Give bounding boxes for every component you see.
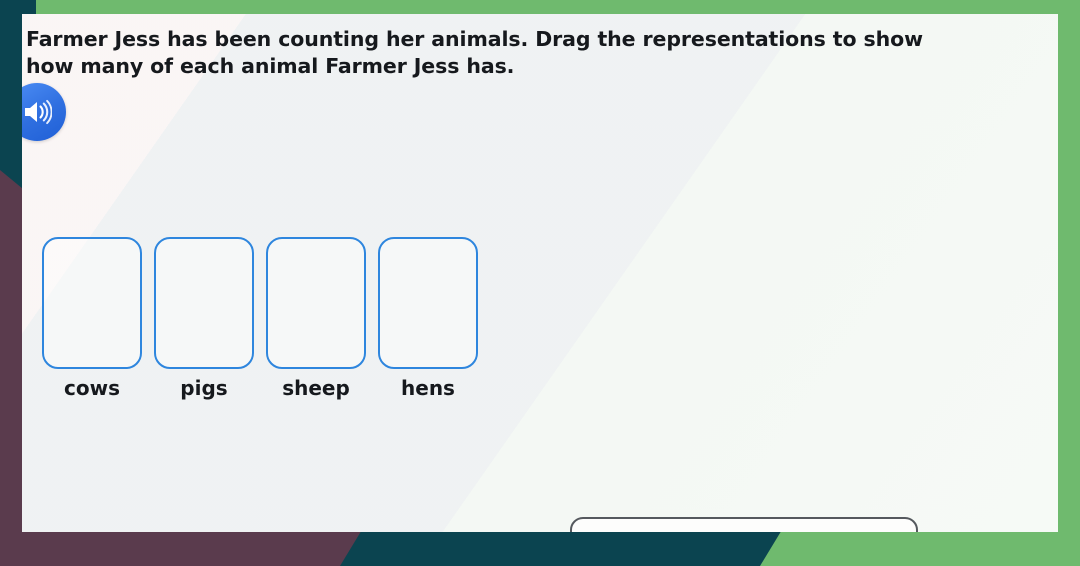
dropzone-sheep-label: sheep xyxy=(282,376,350,400)
dropzone-pigs-label: pigs xyxy=(180,376,227,400)
speech-line: Here are my pigs. xyxy=(588,531,902,533)
dropzone-hens-label: hens xyxy=(401,376,455,400)
content-card: Farmer Jess has been counting her animal… xyxy=(22,14,1058,532)
activity-frame: Farmer Jess has been counting her animal… xyxy=(0,0,1080,566)
dropzone-pigs-box[interactable] xyxy=(154,237,254,369)
dropzone-cows[interactable]: cows xyxy=(42,237,142,400)
dropzone-row: cows pigs sheep hens xyxy=(42,237,1058,400)
speech-bubble: Here are my pigs. I have fewer hens than… xyxy=(570,517,918,533)
dropzone-cows-box[interactable] xyxy=(42,237,142,369)
dropzone-hens[interactable]: hens xyxy=(378,237,478,400)
dropzone-pigs[interactable]: pigs xyxy=(154,237,254,400)
dropzone-sheep-box[interactable] xyxy=(266,237,366,369)
dropzone-hens-box[interactable] xyxy=(378,237,478,369)
instruction-text: Farmer Jess has been counting her animal… xyxy=(26,26,956,81)
dropzone-cows-label: cows xyxy=(64,376,120,400)
speaker-icon xyxy=(22,99,52,125)
dropzone-sheep[interactable]: sheep xyxy=(266,237,366,400)
